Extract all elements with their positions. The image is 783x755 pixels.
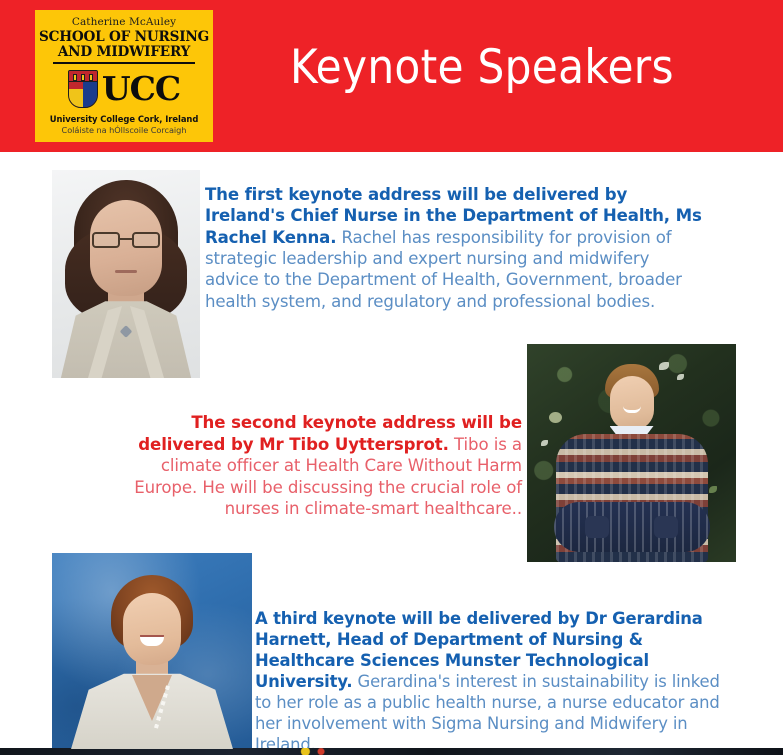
logo-divider: [53, 62, 195, 64]
keynote-speakers-page: Catherine McAuley SCHOOL OF NURSINGAND M…: [0, 0, 783, 755]
logo-irish-text: Coláiste na hÓllscoile Corcaigh: [62, 125, 187, 135]
speaker-photo-tibo: [527, 344, 736, 562]
logo-ucc-text: UCC: [102, 73, 180, 105]
speaker-photo-harnett: [52, 553, 252, 749]
speaker-bio-harnett: A third keynote will be delivered by Dr …: [255, 608, 733, 755]
logo-ucc-row: UCC: [68, 67, 180, 111]
page-title: Keynote Speakers: [290, 44, 760, 91]
ucc-coat-of-arms-icon: [68, 70, 98, 108]
eyeglasses-icon: [92, 232, 160, 249]
speaker-photo-kenna: [52, 170, 200, 378]
cut-off-bottom-strip: [0, 748, 783, 755]
logo-university-text: University College Cork, Ireland: [50, 114, 199, 124]
speaker-bio-kenna: The first keynote address will be delive…: [205, 184, 705, 312]
speaker-bio-tibo: The second keynote address will be deliv…: [130, 412, 522, 520]
logo-catherine-mcauley-text: Catherine McAuley: [72, 17, 176, 29]
header-banner: Catherine McAuley SCHOOL OF NURSINGAND M…: [0, 0, 783, 152]
logo-school-text: SCHOOL OF NURSINGAND MIDWIFERY: [39, 30, 209, 60]
ucc-school-logo: Catherine McAuley SCHOOL OF NURSINGAND M…: [35, 10, 213, 142]
